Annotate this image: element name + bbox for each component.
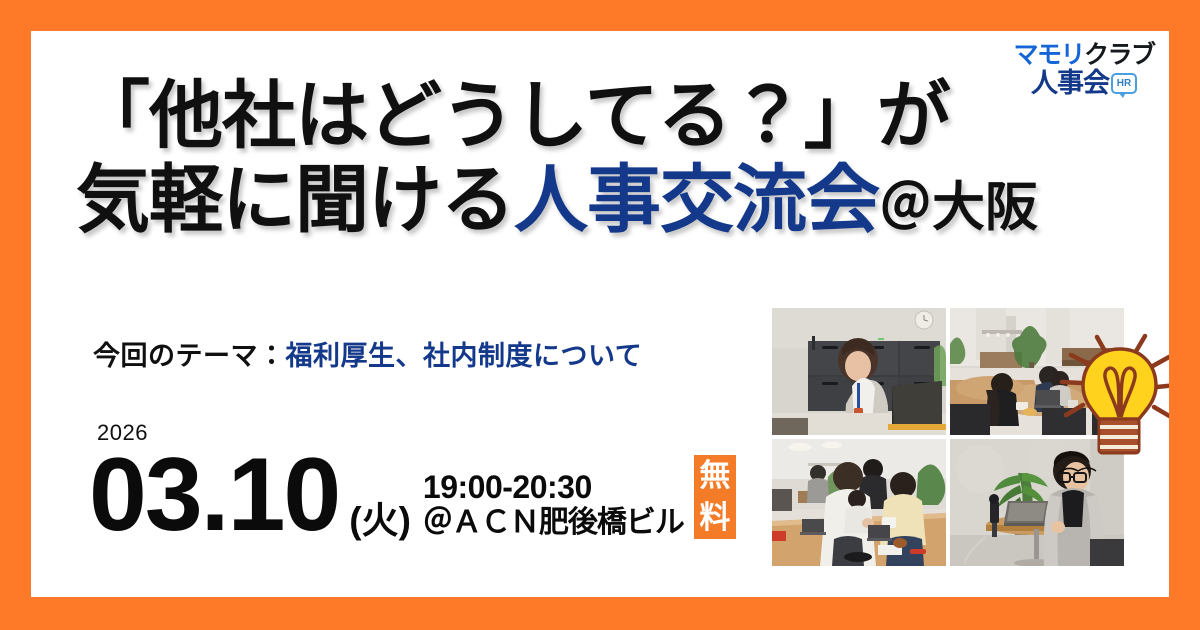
theme-line: 今回のテーマ：福利厚生、社内制度について	[93, 334, 642, 373]
logo-mamori-text: マモリ	[1013, 41, 1084, 69]
headline-line-1: 「他社はどうしてる？」が	[76, 74, 1156, 158]
theme-value: 福利厚生、社内制度について	[286, 341, 643, 371]
event-poster: マモリクラブ 人事会 HR 「他社はどうしてる？」が 気軽に聞ける人事交流会＠大…	[0, 0, 1200, 630]
headline-location-suffix: ＠大阪	[879, 178, 1038, 237]
photo-speaker-presenting	[950, 439, 1124, 566]
headline-line-2-plain: 気軽に聞ける	[76, 158, 514, 241]
event-venue: ＠ＡＣＮ肥後橋ビル	[423, 506, 684, 540]
photo-attendees-networking	[772, 439, 946, 566]
event-day-of-week: (火)	[349, 502, 411, 544]
logo-club-text: クラブ	[1084, 41, 1155, 69]
event-year: 2026	[97, 420, 148, 446]
price-badge: 無料	[694, 455, 736, 539]
photo-group-meeting	[950, 308, 1124, 435]
event-time-place: 19:00-20:30 ＠ＡＣＮ肥後橋ビル	[423, 470, 684, 543]
headline: 「他社はどうしてる？」が 気軽に聞ける人事交流会＠大阪	[76, 74, 1156, 241]
logo-line-1: マモリクラブ	[1009, 43, 1159, 68]
event-date-block: 2026 03.10	[89, 426, 345, 544]
photo-grid	[772, 308, 1124, 566]
headline-line-2: 気軽に聞ける人事交流会＠大阪	[76, 158, 1156, 242]
poster-canvas: マモリクラブ 人事会 HR 「他社はどうしてる？」が 気軽に聞ける人事交流会＠大…	[31, 31, 1169, 597]
event-time: 19:00-20:30	[423, 470, 684, 506]
photo-woman-at-laptop	[772, 308, 946, 435]
theme-label: 今回のテーマ：	[93, 341, 286, 371]
headline-line-2-accent: 人事交流会	[514, 158, 879, 241]
event-details: 2026 03.10 (火) 19:00-20:30 ＠ＡＣＮ肥後橋ビル 無料	[89, 426, 736, 544]
